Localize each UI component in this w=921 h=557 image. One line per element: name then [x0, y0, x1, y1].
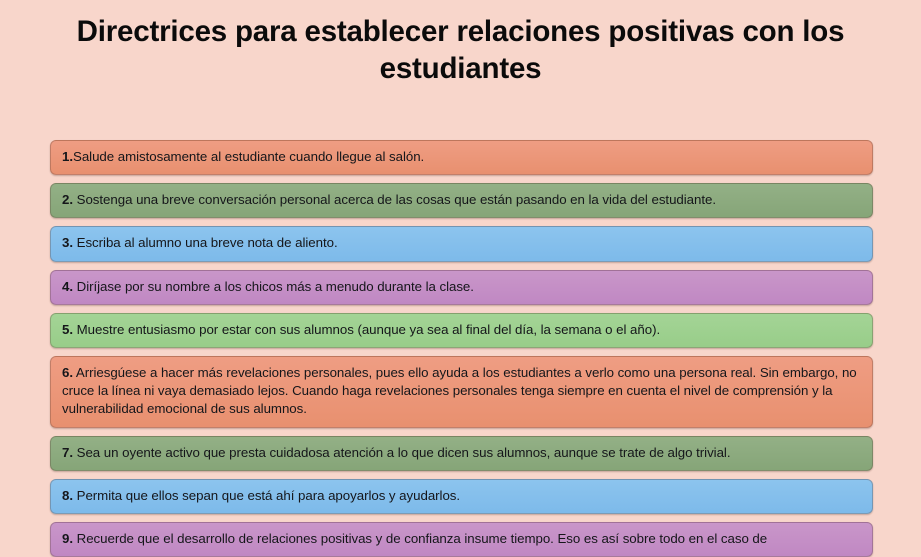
guideline-row: 7. Sea un oyente activo que presta cuida… [50, 436, 873, 471]
guideline-text: Salude amistosamente al estudiante cuand… [73, 149, 424, 164]
guideline-number: 2. [62, 192, 73, 207]
guideline-text: Recuerde que el desarrollo de relaciones… [73, 531, 767, 546]
guideline-number: 3. [62, 235, 73, 250]
guideline-row: 1.Salude amistosamente al estudiante cua… [50, 140, 873, 175]
guideline-number: 6. [62, 365, 73, 380]
slide-page: Directrices para establecer relaciones p… [0, 0, 921, 540]
guideline-row: 3. Escriba al alumno una breve nota de a… [50, 226, 873, 261]
guideline-row: 4. Diríjase por su nombre a los chicos m… [50, 270, 873, 305]
guideline-text: Diríjase por su nombre a los chicos más … [73, 279, 474, 294]
guideline-row: 2. Sostenga una breve conversación perso… [50, 183, 873, 218]
guideline-number: 8. [62, 488, 73, 503]
guideline-number: 5. [62, 322, 73, 337]
guideline-number: 9. [62, 531, 73, 546]
guidelines-list: 1.Salude amistosamente al estudiante cua… [50, 140, 873, 557]
guideline-number: 4. [62, 279, 73, 294]
guideline-text: Muestre entusiasmo por estar con sus alu… [73, 322, 660, 337]
guideline-text: Sea un oyente activo que presta cuidados… [73, 445, 730, 460]
guideline-text: Permita que ellos sepan que está ahí par… [73, 488, 460, 503]
guideline-row: 8. Permita que ellos sepan que está ahí … [50, 479, 873, 514]
guideline-row: 6. Arriesgúese a hacer más revelaciones … [50, 356, 873, 428]
guideline-row: 5. Muestre entusiasmo por estar con sus … [50, 313, 873, 348]
guideline-text: Arriesgúese a hacer más revelaciones per… [62, 365, 857, 416]
page-title: Directrices para establecer relaciones p… [0, 0, 921, 88]
guideline-number: 7. [62, 445, 73, 460]
guideline-text: Escriba al alumno una breve nota de alie… [73, 235, 338, 250]
guideline-text: Sostenga una breve conversación personal… [73, 192, 716, 207]
guideline-number: 1. [62, 149, 73, 164]
